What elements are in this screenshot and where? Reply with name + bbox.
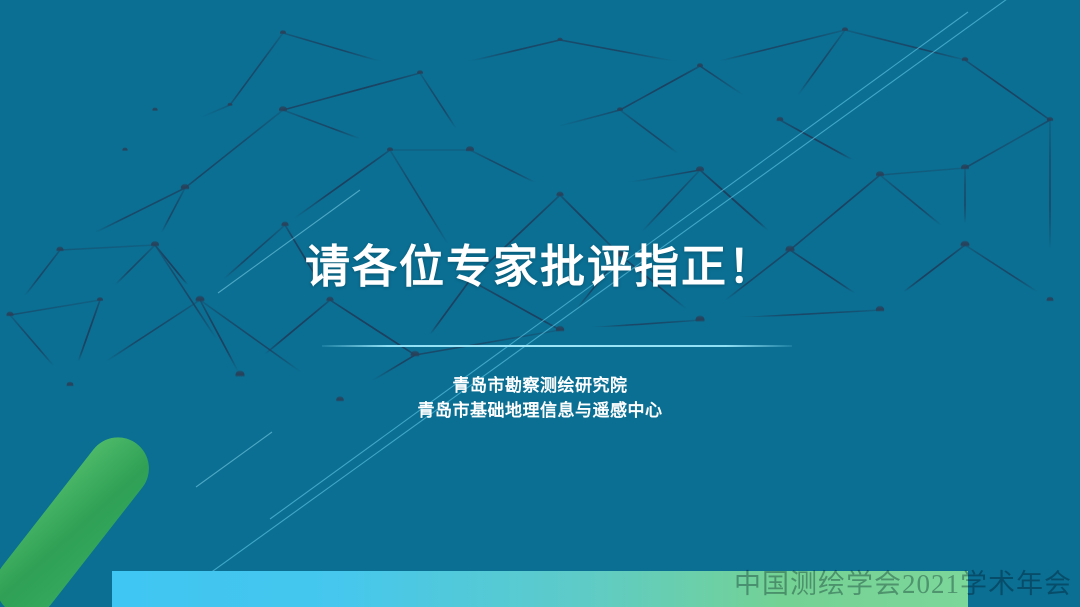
subtitle-line-1: 青岛市勘察测绘研究院: [0, 374, 1080, 399]
presentation-slide: 请各位专家批评指正！ 青岛市勘察测绘研究院 青岛市基础地理信息与遥感中心 中国测…: [0, 0, 1080, 607]
slide-subtitle: 青岛市勘察测绘研究院 青岛市基础地理信息与遥感中心: [0, 374, 1080, 423]
title-divider: [322, 345, 792, 347]
slide-content: 请各位专家批评指正！ 青岛市勘察测绘研究院 青岛市基础地理信息与遥感中心: [0, 0, 1080, 607]
subtitle-line-2: 青岛市基础地理信息与遥感中心: [0, 399, 1080, 424]
slide-title: 请各位专家批评指正！: [0, 240, 1080, 294]
conference-watermark: 中国测绘学会2021学术年会: [734, 562, 1072, 601]
